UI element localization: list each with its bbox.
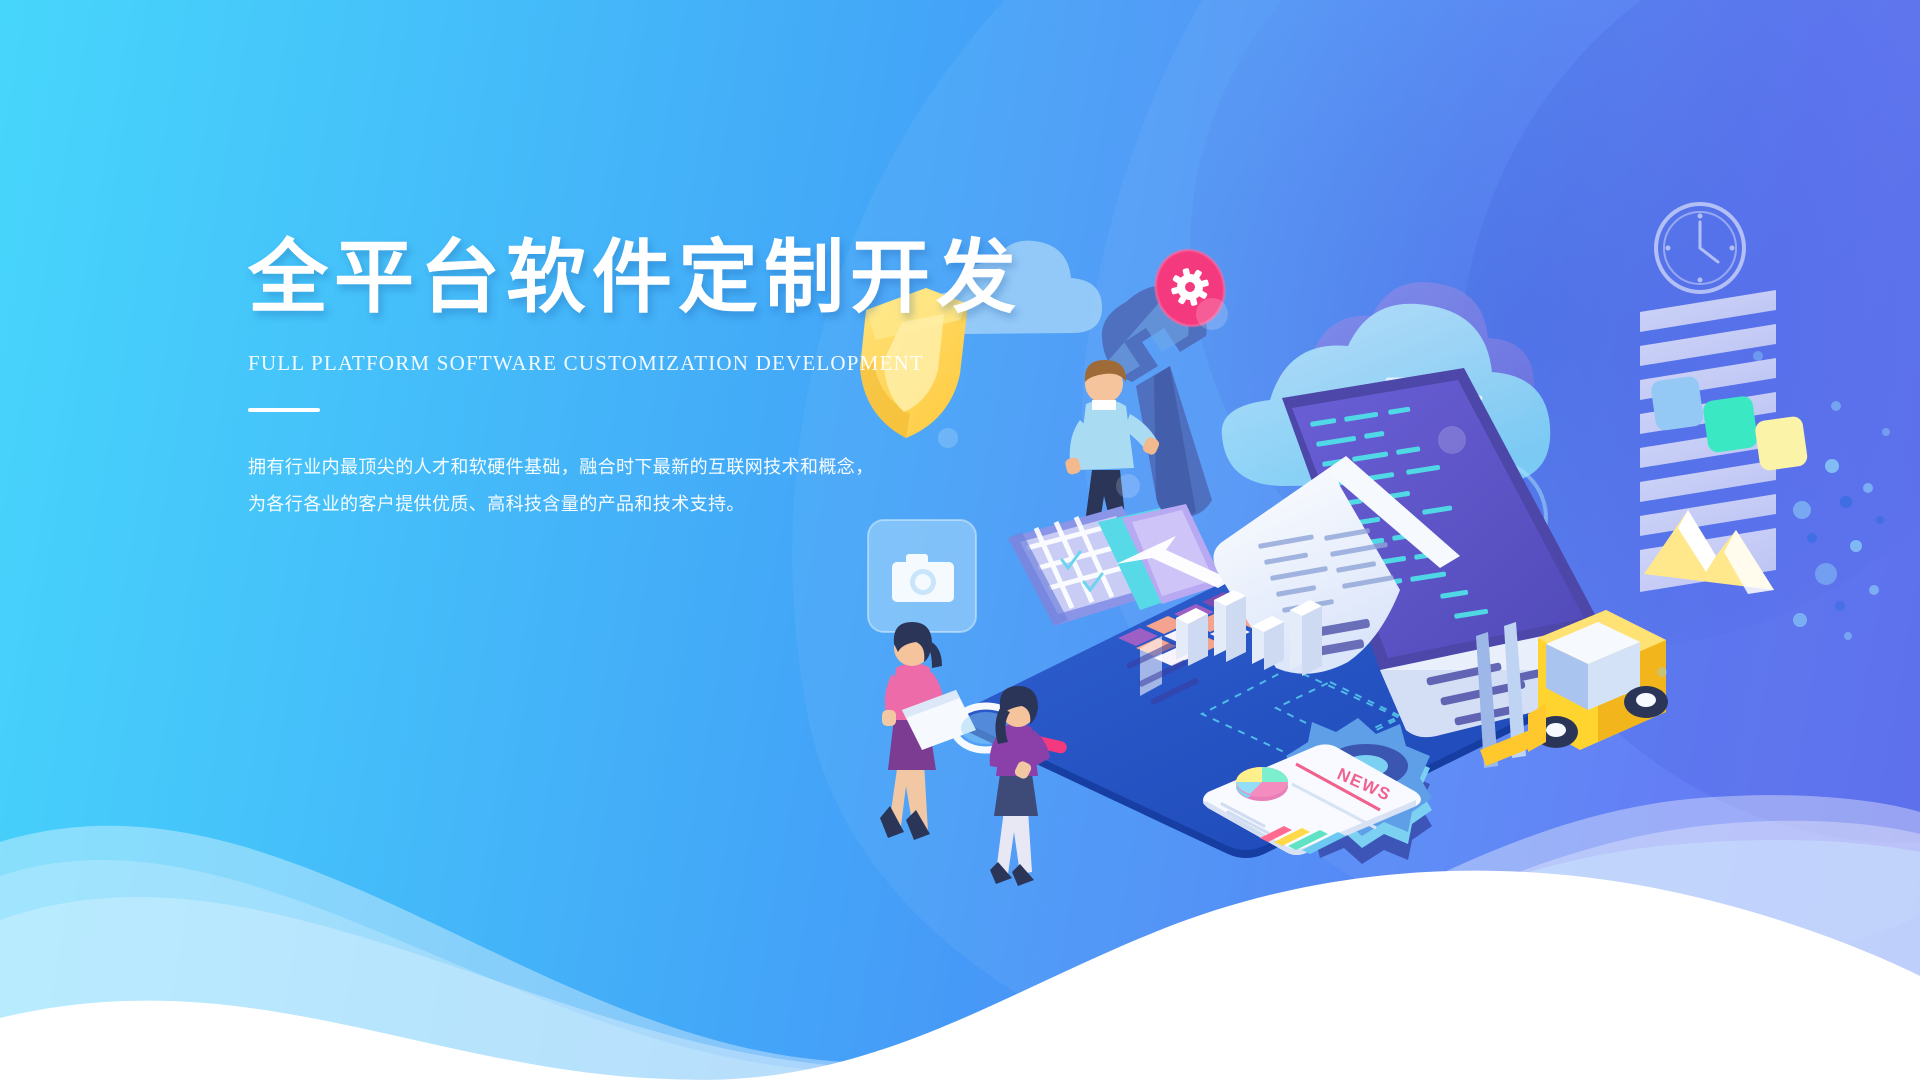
- page-subtitle: FULL PLATFORM SOFTWARE CUSTOMIZATION DEV…: [248, 351, 1068, 376]
- page-title: 全平台软件定制开发: [248, 235, 1068, 321]
- document-panel-icon: [1640, 290, 1808, 594]
- page-description: 拥有行业内最顶尖的人才和软硬件基础，融合时下最新的互联网技术和概念，为各行各业的…: [248, 450, 888, 524]
- hero-banner: NEWS: [0, 0, 1920, 1080]
- clock-icon: [1656, 204, 1744, 292]
- hero-text-block: 全平台软件定制开发 FULL PLATFORM SOFTWARE CUSTOMI…: [248, 235, 1068, 524]
- title-divider: [248, 408, 320, 412]
- camera-card-icon: [868, 520, 976, 632]
- bottom-wave-decoration: [0, 780, 1920, 1080]
